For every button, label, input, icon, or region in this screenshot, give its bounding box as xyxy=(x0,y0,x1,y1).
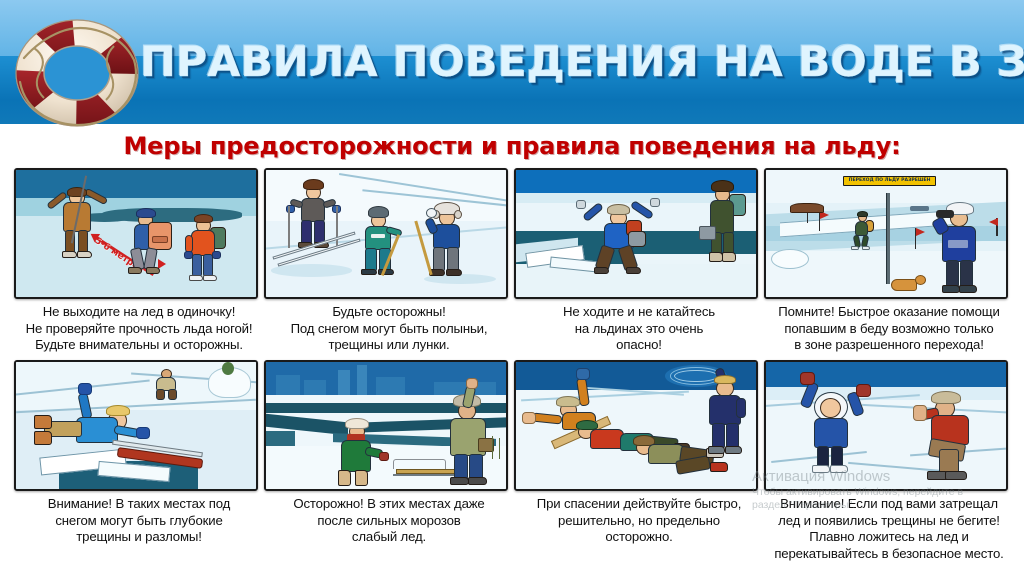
panel-4-caption: Помните! Быстрое оказание помощи попавши… xyxy=(764,304,1014,354)
panel-1-caption: Не выходите на лед в одиночку! Не провер… xyxy=(14,304,264,354)
caption-line: Не проверяйте прочность льда ногой! xyxy=(14,321,264,338)
panel-6-caption: Осторожно! В этих местах даже после силь… xyxy=(264,496,514,546)
panel-cell-7: При спасении действуйте быстро, решитель… xyxy=(514,360,764,546)
lifebuoy-icon xyxy=(10,18,144,128)
panel-8-caption: Внимание! Если под вами затрещал лед и п… xyxy=(764,496,1014,562)
caption-line: после сильных морозов xyxy=(264,513,514,530)
caption-line: снегом могут быть глубокие xyxy=(14,513,264,530)
caption-line: Помните! Быстрое оказание помощи xyxy=(764,304,1014,321)
panel-4-image: ПЕРЕХОД ПО ЛЬДУ РАЗРЕШЕН xyxy=(764,168,1008,299)
panel-6-image xyxy=(264,360,508,491)
page-title: ПРАВИЛА ПОВЕДЕНИЯ НА ВОДЕ В ЗИМНЕЕ ВРЕМЯ xyxy=(140,34,1024,92)
caption-line: При спасении действуйте быстро, xyxy=(514,496,764,513)
panel-2-image xyxy=(264,168,508,299)
panel-8-image xyxy=(764,360,1008,491)
panel-cell-6: Осторожно! В этих местах даже после силь… xyxy=(264,360,514,546)
ice-crossing-sign: ПЕРЕХОД ПО ЛЬДУ РАЗРЕШЕН xyxy=(843,176,937,186)
caption-line: Будьте осторожны! xyxy=(264,304,514,321)
caption-line: решительно, но предельно xyxy=(514,513,764,530)
caption-line: опасно! xyxy=(514,337,764,354)
caption-line: Внимание! Если под вами затрещал xyxy=(764,496,1014,513)
panel-5-caption: Внимание! В таких местах под снегом могу… xyxy=(14,496,264,546)
caption-line: трещины и разломы! xyxy=(14,529,264,546)
caption-line: попавшим в беду возможно только xyxy=(764,321,1014,338)
panel-7-caption: При спасении действуйте быстро, решитель… xyxy=(514,496,764,546)
panel-7-image xyxy=(514,360,758,491)
panel-3-image xyxy=(514,168,758,299)
subtitle: Меры предосторожности и правила поведени… xyxy=(0,130,1024,162)
panel-cell-4: ПЕРЕХОД ПО ЛЬДУ РАЗРЕШЕН xyxy=(764,168,1014,354)
caption-line: Осторожно! В этих местах даже xyxy=(264,496,514,513)
panel-cell-3: Не ходите и не катайтесь на льдинах это … xyxy=(514,168,764,354)
panel-2-caption: Будьте осторожны! Под снегом могут быть … xyxy=(264,304,514,354)
caption-line: Не выходите на лед в одиночку! xyxy=(14,304,264,321)
panel-cell-1: 5-6 метров xyxy=(14,168,264,354)
caption-line: трещины или лунки. xyxy=(264,337,514,354)
caption-line: слабый лед. xyxy=(264,529,514,546)
poster-root: ПРАВИЛА ПОВЕДЕНИЯ НА ВОДЕ В ЗИМНЕЕ ВРЕМЯ xyxy=(0,0,1024,576)
caption-line: Под снегом могут быть полыньи, xyxy=(264,321,514,338)
caption-line: Плавно ложитесь на лед и xyxy=(764,529,1014,546)
panel-5-image xyxy=(14,360,258,491)
panel-grid: 5-6 метров xyxy=(0,168,1024,576)
caption-line: Не ходите и не катайтесь xyxy=(514,304,764,321)
panel-cell-5: Внимание! В таких местах под снегом могу… xyxy=(14,360,264,546)
caption-line: осторожно. xyxy=(514,529,764,546)
caption-line: перекатывайтесь в безопасное место. xyxy=(764,546,1014,563)
panel-cell-8: Внимание! Если под вами затрещал лед и п… xyxy=(764,360,1014,562)
caption-line: Будьте внимательны и осторожны. xyxy=(14,337,264,354)
caption-line: в зоне разрешенного перехода! xyxy=(764,337,1014,354)
caption-line: Внимание! В таких местах под xyxy=(14,496,264,513)
panel-1-image: 5-6 метров xyxy=(14,168,258,299)
caption-line: лед и появились трещины не бегите! xyxy=(764,513,1014,530)
poster-header: ПРАВИЛА ПОВЕДЕНИЯ НА ВОДЕ В ЗИМНЕЕ ВРЕМЯ xyxy=(0,0,1024,124)
panel-cell-2: Будьте осторожны! Под снегом могут быть … xyxy=(264,168,514,354)
caption-line: на льдинах это очень xyxy=(514,321,764,338)
panel-3-caption: Не ходите и не катайтесь на льдинах это … xyxy=(514,304,764,354)
